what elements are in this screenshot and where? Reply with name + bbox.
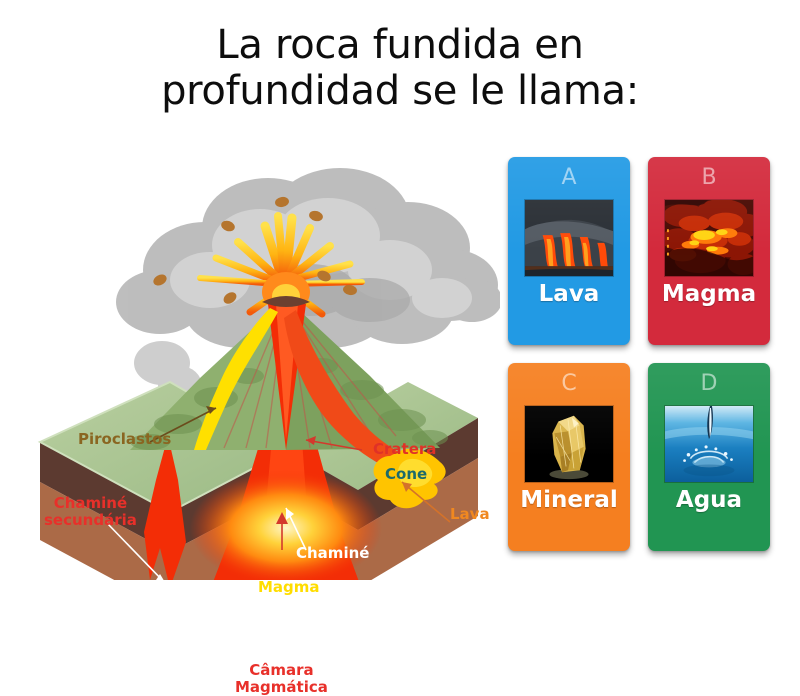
question-line-2: profundidad se le llama: <box>0 68 800 114</box>
lava-photo-icon <box>525 200 613 276</box>
answer-letter-a: A <box>508 165 630 190</box>
answer-label-a: Lava <box>508 281 630 307</box>
diagram-label-camara-magmatica: Câmara Magmática <box>235 662 328 696</box>
answer-label-c: Mineral <box>508 487 630 513</box>
magma-thumbnail <box>664 199 754 277</box>
lava-thumbnail <box>524 199 614 277</box>
answer-card-b[interactable]: B <box>648 157 770 345</box>
mineral-thumbnail <box>524 405 614 483</box>
camara-line-2: Magmática <box>235 679 328 696</box>
mineral-photo-icon <box>525 406 613 482</box>
diagram-label-cratera: Cratera <box>373 441 436 458</box>
answer-label-b: Magma <box>648 281 770 307</box>
answer-card-a[interactable]: A Lava <box>508 157 630 345</box>
answer-label-d: Agua <box>648 487 770 513</box>
camara-line-1: Câmara <box>235 662 328 679</box>
diagram-label-cone: Cone <box>385 466 427 483</box>
volcano-diagram: Piroclastos Cratera Cone Lava Chaminé se… <box>10 150 500 580</box>
diagram-label-lava: Lava <box>450 506 490 523</box>
answer-letter-c: C <box>508 371 630 396</box>
diagram-label-chamine-secundaria: Chaminé secundária <box>44 495 137 529</box>
answer-options-grid: A Lava <box>508 157 770 567</box>
answer-letter-d: D <box>648 371 770 396</box>
answer-letter-b: B <box>648 165 770 190</box>
page-title: La roca fundida en profundidad se le lla… <box>0 22 800 115</box>
answer-card-c[interactable]: C Mineral <box>508 363 630 551</box>
diagram-label-piroclastos: Piroclastos <box>78 431 171 448</box>
water-thumbnail <box>664 405 754 483</box>
diagram-label-chamine: Chaminé <box>296 545 369 562</box>
answer-card-d[interactable]: D <box>648 363 770 551</box>
diagram-label-magma: Magma <box>258 579 320 596</box>
chamine-secundaria-line-2: secundária <box>44 512 137 529</box>
chamine-secundaria-line-1: Chaminé <box>44 495 137 512</box>
magma-photo-icon <box>665 200 753 276</box>
water-photo-icon <box>665 406 753 482</box>
question-line-1: La roca fundida en <box>0 22 800 68</box>
